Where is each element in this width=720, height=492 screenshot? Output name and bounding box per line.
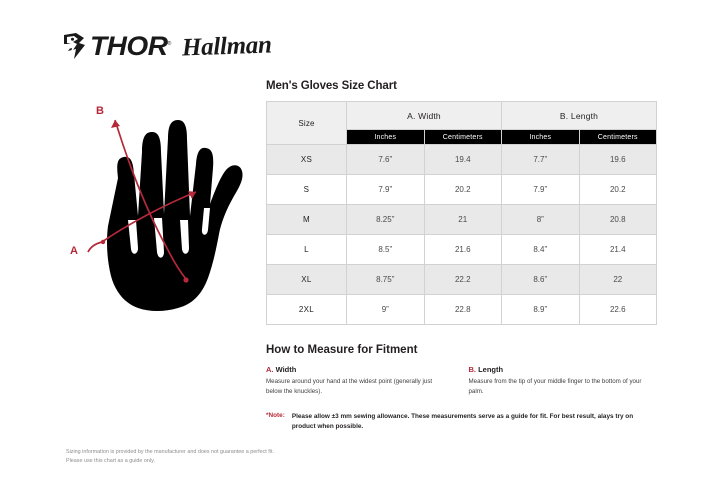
cell-length-centimeters: 19.6	[579, 145, 657, 175]
table-row: L 8.5” 21.6 8.4” 21.4	[267, 235, 657, 265]
column-header-width-centimeters: Centimeters	[424, 130, 502, 145]
measure-instruction-length: B. Length Measure from the tip of your m…	[468, 365, 658, 396]
column-header-size: Size	[267, 102, 347, 145]
diagram-label-a: A	[70, 245, 78, 257]
cell-length-centimeters: 22.6	[579, 295, 657, 325]
brand-logo-bar: THOR® Hallman	[62, 32, 271, 60]
column-header-length-centimeters: Centimeters	[579, 130, 657, 145]
cell-length-centimeters: 22	[579, 265, 657, 295]
cell-width-inches: 7.9”	[347, 175, 425, 205]
how-to-measure-section: How to Measure for Fitment A. Width Meas…	[266, 344, 658, 396]
cell-width-inches: 8.25”	[347, 205, 425, 235]
thor-logo: THOR®	[62, 32, 168, 60]
cell-size: M	[267, 205, 347, 235]
cell-length-inches: 8.4”	[502, 235, 580, 265]
measure-body-b: Measure from the tip of your middle fing…	[468, 377, 646, 396]
sewing-allowance-note: *Note: Please allow ±3 mm sewing allowan…	[266, 412, 658, 433]
cell-size: L	[267, 235, 347, 265]
table-row: XL 8.75” 22.2 8.6” 22	[267, 265, 657, 295]
cell-length-centimeters: 20.2	[579, 175, 657, 205]
size-chart-content: Men's Gloves Size Chart Size A. Width B.…	[266, 80, 658, 433]
measure-label-b: B. Length	[468, 365, 658, 374]
length-arrow-endpoint	[183, 277, 188, 282]
thor-hammer-icon	[62, 32, 88, 60]
hand-measurement-diagram: B A	[58, 92, 268, 322]
table-header-group-row: Size A. Width B. Length	[267, 102, 657, 130]
table-row: S 7.9” 20.2 7.9” 20.2	[267, 175, 657, 205]
cell-length-centimeters: 20.8	[579, 205, 657, 235]
column-header-length: B. Length	[502, 102, 657, 130]
cell-length-inches: 8”	[502, 205, 580, 235]
hand-palm-silhouette-icon	[107, 120, 243, 311]
cell-size: 2XL	[267, 295, 347, 325]
footer-line-1: Sizing information is provided by the ma…	[66, 448, 274, 457]
note-label: *Note:	[266, 412, 285, 419]
table-row: 2XL 9” 22.8 8.9” 22.6	[267, 295, 657, 325]
column-header-width: A. Width	[347, 102, 502, 130]
size-chart-table: Size A. Width B. Length Inches Centimete…	[266, 101, 657, 325]
cell-width-inches: 9”	[347, 295, 425, 325]
cell-width-centimeters: 21	[424, 205, 502, 235]
measure-mark-b: B.	[468, 365, 476, 374]
footer-line-2: Please use this chart as a guide only.	[66, 457, 274, 466]
note-text: Please allow ±3 mm sewing allowance. The…	[292, 412, 644, 433]
page-title: Men's Gloves Size Chart	[266, 80, 658, 92]
measure-body-a: Measure around your hand at the widest p…	[266, 377, 444, 396]
cell-size: XL	[267, 265, 347, 295]
size-chart-page: { "brand": { "primary_logo_text": "THOR"…	[0, 0, 720, 492]
cell-width-inches: 8.75”	[347, 265, 425, 295]
cell-length-inches: 7.9”	[502, 175, 580, 205]
cell-width-inches: 8.5”	[347, 235, 425, 265]
cell-width-centimeters: 20.2	[424, 175, 502, 205]
cell-size: XS	[267, 145, 347, 175]
measure-label-a: A. Width	[266, 365, 468, 374]
measure-instruction-width: A. Width Measure around your hand at the…	[266, 365, 468, 396]
table-row: M 8.25” 21 8” 20.8	[267, 205, 657, 235]
how-to-measure-title: How to Measure for Fitment	[266, 344, 658, 356]
diagram-label-b: B	[96, 105, 104, 117]
hallman-wordmark: Hallman	[181, 32, 271, 60]
cell-size: S	[267, 175, 347, 205]
cell-length-inches: 8.9”	[502, 295, 580, 325]
cell-width-centimeters: 21.6	[424, 235, 502, 265]
column-header-width-inches: Inches	[347, 130, 425, 145]
cell-width-centimeters: 22.8	[424, 295, 502, 325]
measure-label-a-text: Width	[274, 365, 297, 374]
column-header-length-inches: Inches	[502, 130, 580, 145]
cell-length-inches: 8.6”	[502, 265, 580, 295]
length-arrow-head	[111, 120, 120, 128]
cell-width-centimeters: 19.4	[424, 145, 502, 175]
cell-width-centimeters: 22.2	[424, 265, 502, 295]
width-arrow-endpoint	[101, 240, 105, 244]
table-row: XS 7.6” 19.4 7.7” 19.6	[267, 145, 657, 175]
registered-mark: ®	[167, 41, 170, 47]
cell-length-centimeters: 21.4	[579, 235, 657, 265]
cell-width-inches: 7.6”	[347, 145, 425, 175]
measure-mark-a: A.	[266, 365, 274, 374]
measure-label-b-text: Length	[476, 365, 503, 374]
footer-disclaimer: Sizing information is provided by the ma…	[66, 448, 274, 467]
thor-wordmark: THOR®	[90, 33, 171, 60]
cell-length-inches: 7.7”	[502, 145, 580, 175]
